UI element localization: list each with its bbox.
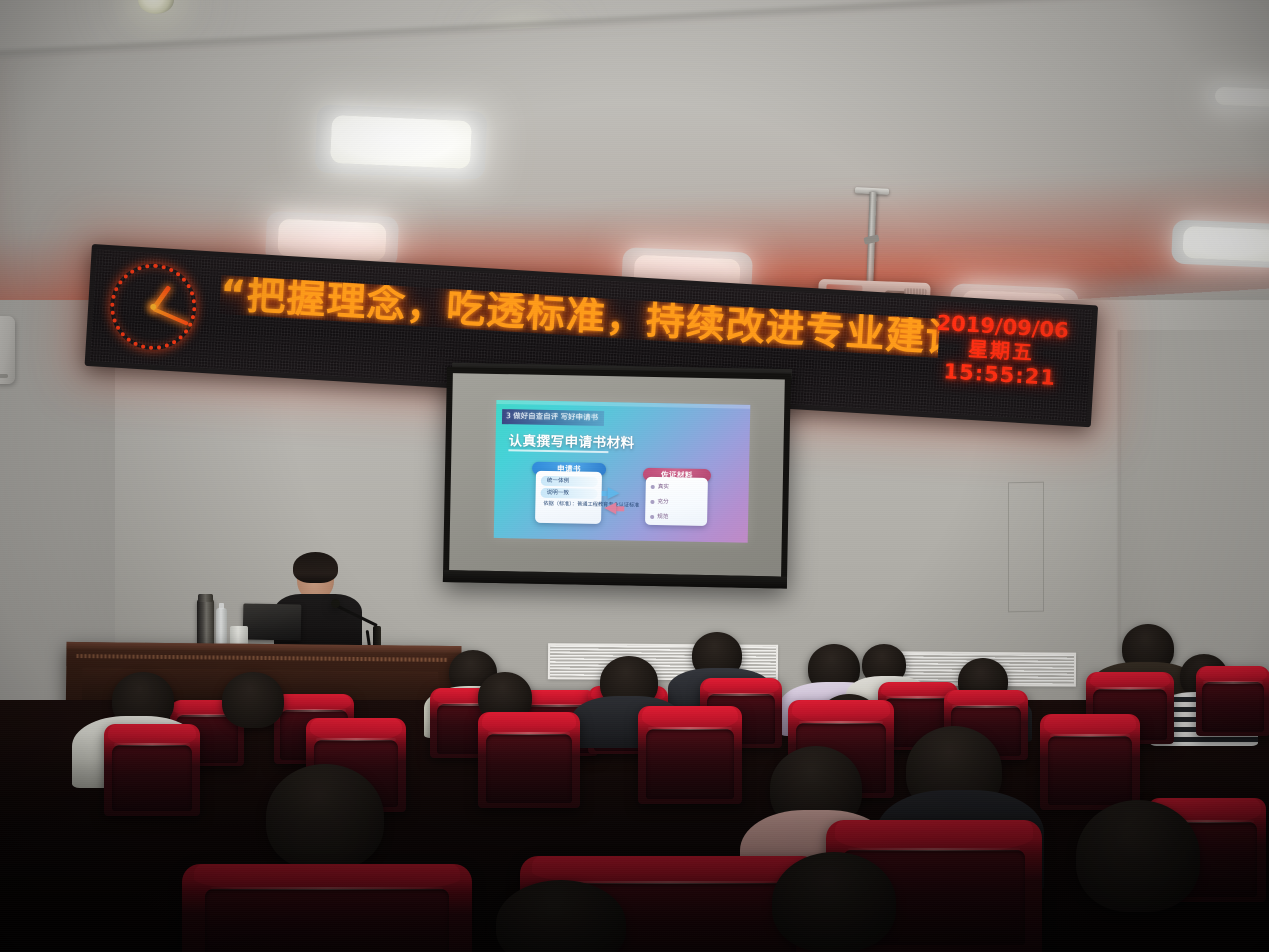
slide-right-item: 充分 <box>650 497 703 508</box>
slide-left-card: 统一体例 说明一致 依据（标准）：普通工程教育专业认证标准 <box>535 471 602 524</box>
slide-arrow-left-tail <box>616 506 624 511</box>
wall-corner <box>1118 330 1120 720</box>
audience-head <box>1076 800 1200 912</box>
projection-screen: 3 做好自查自评 写好申请书 认真撰写申请书材料 申请书 佐证材料 统一体例 说… <box>443 367 791 589</box>
auditorium-seat <box>1040 714 1140 810</box>
gooseneck-microphone <box>336 600 384 648</box>
slide-title: 认真撰写申请书材料 <box>508 429 634 451</box>
podium-trim <box>76 654 447 662</box>
conference-hall-photo: “把握理念，吃透标准，持续改进专业建设”专题报告会 2019/09/06 星期五… <box>0 0 1269 952</box>
wall-access-panel <box>1008 482 1044 613</box>
slide-section-header: 3 做好自查自评 写好申请书 <box>502 409 604 426</box>
audience-head <box>222 672 284 728</box>
water-bottle <box>216 608 227 645</box>
presenter-laptop <box>243 603 302 644</box>
presentation-slide: 3 做好自查自评 写好申请书 认真撰写申请书材料 申请书 佐证材料 统一体例 说… <box>494 400 751 543</box>
auditorium-seat <box>1196 666 1269 736</box>
ceiling-panel-light <box>1171 219 1269 268</box>
analog-clock-icon <box>105 258 202 355</box>
audience-head <box>772 852 896 952</box>
microphone-head-icon <box>331 599 340 608</box>
slide-left-item: 说明一致 <box>541 488 598 499</box>
wall-speaker-icon <box>0 316 15 384</box>
auditorium-seat <box>182 864 472 952</box>
ceiling-panel-light <box>315 104 488 179</box>
microphone-arm <box>335 604 377 626</box>
ceiling-panel-light <box>1207 82 1269 111</box>
auditorium-seat <box>478 712 580 808</box>
slide-left-item: 依据（标准）：普通工程教育专业认证标准 <box>540 500 597 509</box>
slide-right-item: 规范 <box>650 512 703 523</box>
thermos-cap <box>198 594 213 602</box>
bottle-neck <box>219 603 224 609</box>
led-datetime-block: 2019/09/06 星期五 15:55:21 <box>924 310 1078 392</box>
slide-top-accent <box>496 400 750 409</box>
slide-right-item: 真实 <box>651 482 704 493</box>
slide-arrow-right-icon <box>607 487 619 499</box>
auditorium-seat <box>104 724 200 816</box>
thermos-flask <box>197 599 214 645</box>
auditorium-seat <box>638 706 742 804</box>
slide-arrow-left-icon <box>604 502 616 514</box>
slide-left-item: 统一体例 <box>541 476 598 487</box>
laptop-lid <box>243 603 302 640</box>
audience-head <box>266 764 384 870</box>
slide-right-card: 真实 充分 规范 <box>645 477 708 526</box>
presenter-hair <box>293 552 338 583</box>
projection-screen-surface: 3 做好自查自评 写好申请书 认真撰写申请书材料 申请书 佐证材料 统一体例 说… <box>449 373 785 576</box>
